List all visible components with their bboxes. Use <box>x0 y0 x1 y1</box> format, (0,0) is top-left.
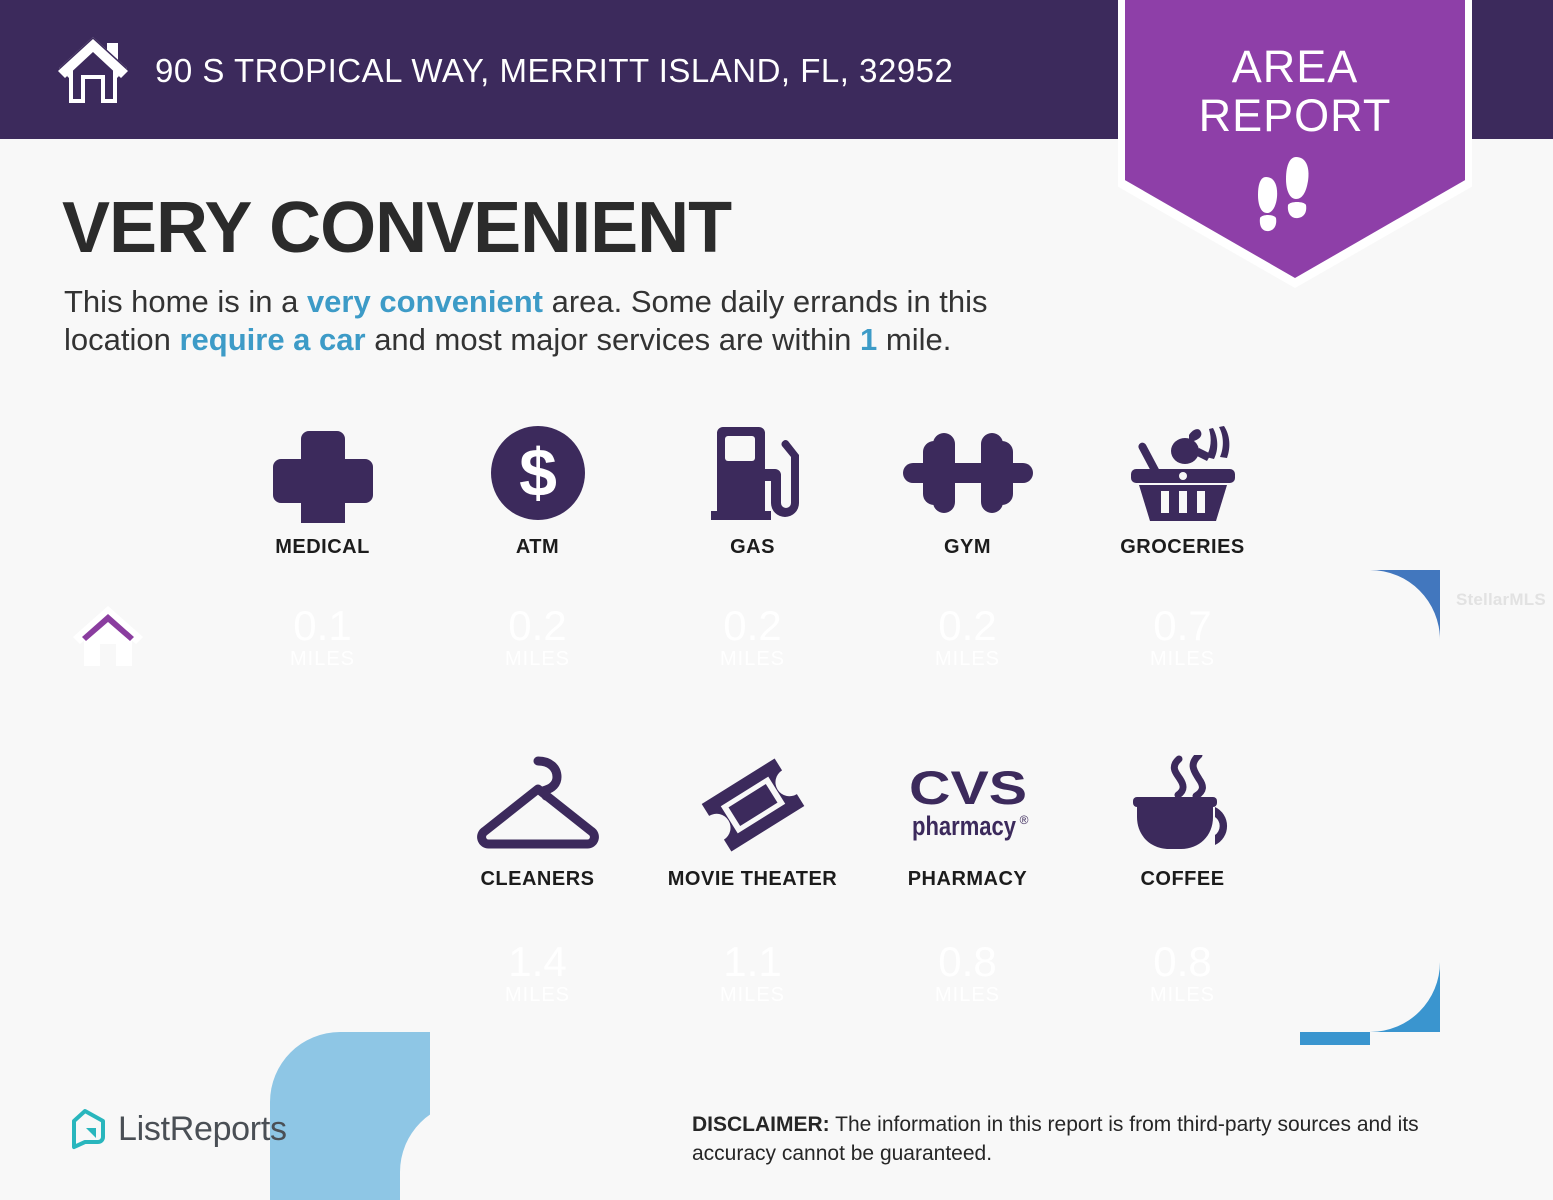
category-cleaners: CLEANERS <box>430 752 645 891</box>
listreports-logo-text: ListReports <box>118 1110 287 1149</box>
area-report-page: 90 S TROPICAL WAY, MERRITT ISLAND, FL, 3… <box>0 0 1553 1200</box>
category-gas: GAS <box>645 420 860 559</box>
dumbbell-icon <box>860 420 1075 526</box>
badge-line-1: AREA <box>1110 42 1480 91</box>
svg-text:$: $ <box>519 435 557 511</box>
category-label: PHARMACY <box>860 868 1075 891</box>
category-label: COFFEE <box>1075 868 1290 891</box>
desc-highlight-3: 1 <box>860 322 877 357</box>
category-gym: GYM <box>860 420 1075 559</box>
header-address: 90 S TROPICAL WAY, MERRITT ISLAND, FL, 3… <box>155 52 953 90</box>
cvs-sub-text: pharmacy <box>912 811 1016 841</box>
ribbon-elbow-upper <box>1300 570 1460 795</box>
category-pharmacy: CVS pharmacy ® PHARMACY <box>860 752 1075 891</box>
home-icon <box>72 604 144 668</box>
clothes-hanger-icon <box>430 752 645 858</box>
bar-segment-gas <box>645 570 860 692</box>
desc-text-4: mile. <box>877 322 951 357</box>
desc-text-1: This home is in a <box>64 284 307 319</box>
grocery-basket-icon <box>1075 420 1290 526</box>
bar-segment-coffee <box>1075 910 1300 1032</box>
cvs-pharmacy-logo: CVS pharmacy ® <box>860 752 1075 858</box>
area-report-badge-title: AREA REPORT <box>1110 42 1480 140</box>
page-title: VERY CONVENIENT <box>62 187 731 269</box>
desc-highlight-1: very convenient <box>307 284 543 319</box>
category-movie-theater: MOVIE THEATER <box>645 752 860 891</box>
coffee-cup-icon <box>1075 752 1290 858</box>
bar-segment-groceries <box>1075 570 1300 692</box>
category-label: MEDICAL <box>215 536 430 559</box>
category-medical: MEDICAL <box>215 420 430 559</box>
disclaimer-label: DISCLAIMER: <box>692 1113 830 1136</box>
category-label: GAS <box>645 536 860 559</box>
bar-segment-medical <box>215 570 430 692</box>
stellarmls-watermark: StellarMLS <box>1456 590 1546 610</box>
listreports-logo: ListReports <box>62 1106 287 1152</box>
bar-segment-cleaners <box>430 910 645 1032</box>
category-label: MOVIE THEATER <box>645 868 860 891</box>
cvs-brand-text: CVS <box>909 761 1027 814</box>
category-groceries: GROCERIES <box>1075 420 1290 559</box>
home-icon <box>57 35 129 105</box>
disclaimer: DISCLAIMER: The information in this repo… <box>692 1110 1502 1168</box>
listreports-house-icon <box>62 1106 108 1152</box>
bar-segment-pharmacy <box>860 910 1075 1032</box>
cvs-registered-mark: ® <box>1019 813 1028 827</box>
dollar-circle-icon: $ <box>430 420 645 526</box>
gas-pump-icon <box>645 420 860 526</box>
category-coffee: COFFEE <box>1075 752 1290 891</box>
bar-segment-movie <box>645 910 860 1032</box>
category-label: CLEANERS <box>430 868 645 891</box>
category-label: GYM <box>860 536 1075 559</box>
hero-description: This home is in a very convenient area. … <box>64 283 1099 359</box>
category-label: ATM <box>430 536 645 559</box>
category-label: GROCERIES <box>1075 536 1290 559</box>
desc-text-3: and most major services are within <box>366 322 860 357</box>
medical-cross-icon <box>215 420 430 526</box>
desc-highlight-2: require a car <box>179 322 365 357</box>
bar-segment-atm <box>430 570 645 692</box>
bar-segment-tail-left <box>260 910 430 1200</box>
movie-ticket-icon <box>645 752 860 858</box>
bar-segment-gym <box>860 570 1075 692</box>
ribbon-elbow-lower <box>1300 795 1460 1045</box>
category-atm: $ ATM <box>430 420 645 559</box>
footprints-icon <box>1250 155 1340 240</box>
badge-line-2: REPORT <box>1110 91 1480 140</box>
